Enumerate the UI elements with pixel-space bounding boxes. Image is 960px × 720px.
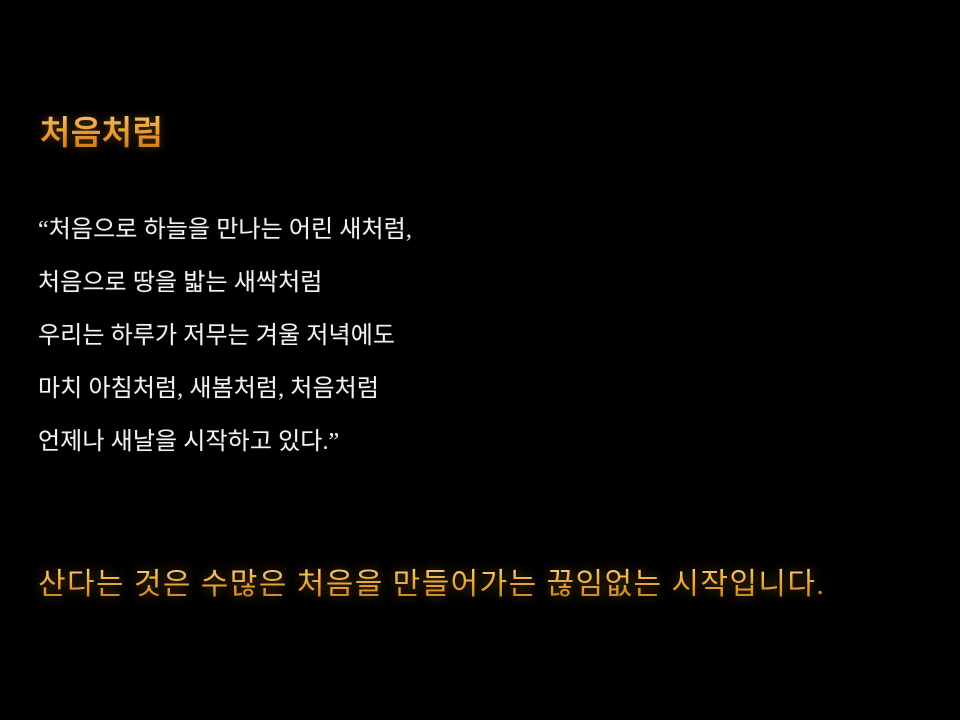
poem-body: “처음으로 하늘을 만나는 어린 새처럼, 처음으로 땅을 밟는 새싹처럼 우리… (38, 204, 598, 469)
poem-line: 처음으로 땅을 밟는 새싹처럼 (38, 257, 598, 310)
presentation-slide: 처음처럼 “처음으로 하늘을 만나는 어린 새처럼, 처음으로 땅을 밟는 새싹… (0, 0, 960, 720)
closing-statement: 산다는 것은 수많은 처음을 만들어가는 끊임없는 시작입니다. (38, 562, 825, 608)
poem-line: 마치 아침처럼, 새봄처럼, 처음처럼 (38, 363, 598, 416)
poem-line: 우리는 하루가 저무는 겨울 저녁에도 (38, 310, 598, 363)
poem-line: “처음으로 하늘을 만나는 어린 새처럼, (38, 204, 598, 257)
page-title: 처음처럼 (40, 112, 163, 156)
poem-line: 언제나 새날을 시작하고 있다.” (38, 416, 598, 469)
